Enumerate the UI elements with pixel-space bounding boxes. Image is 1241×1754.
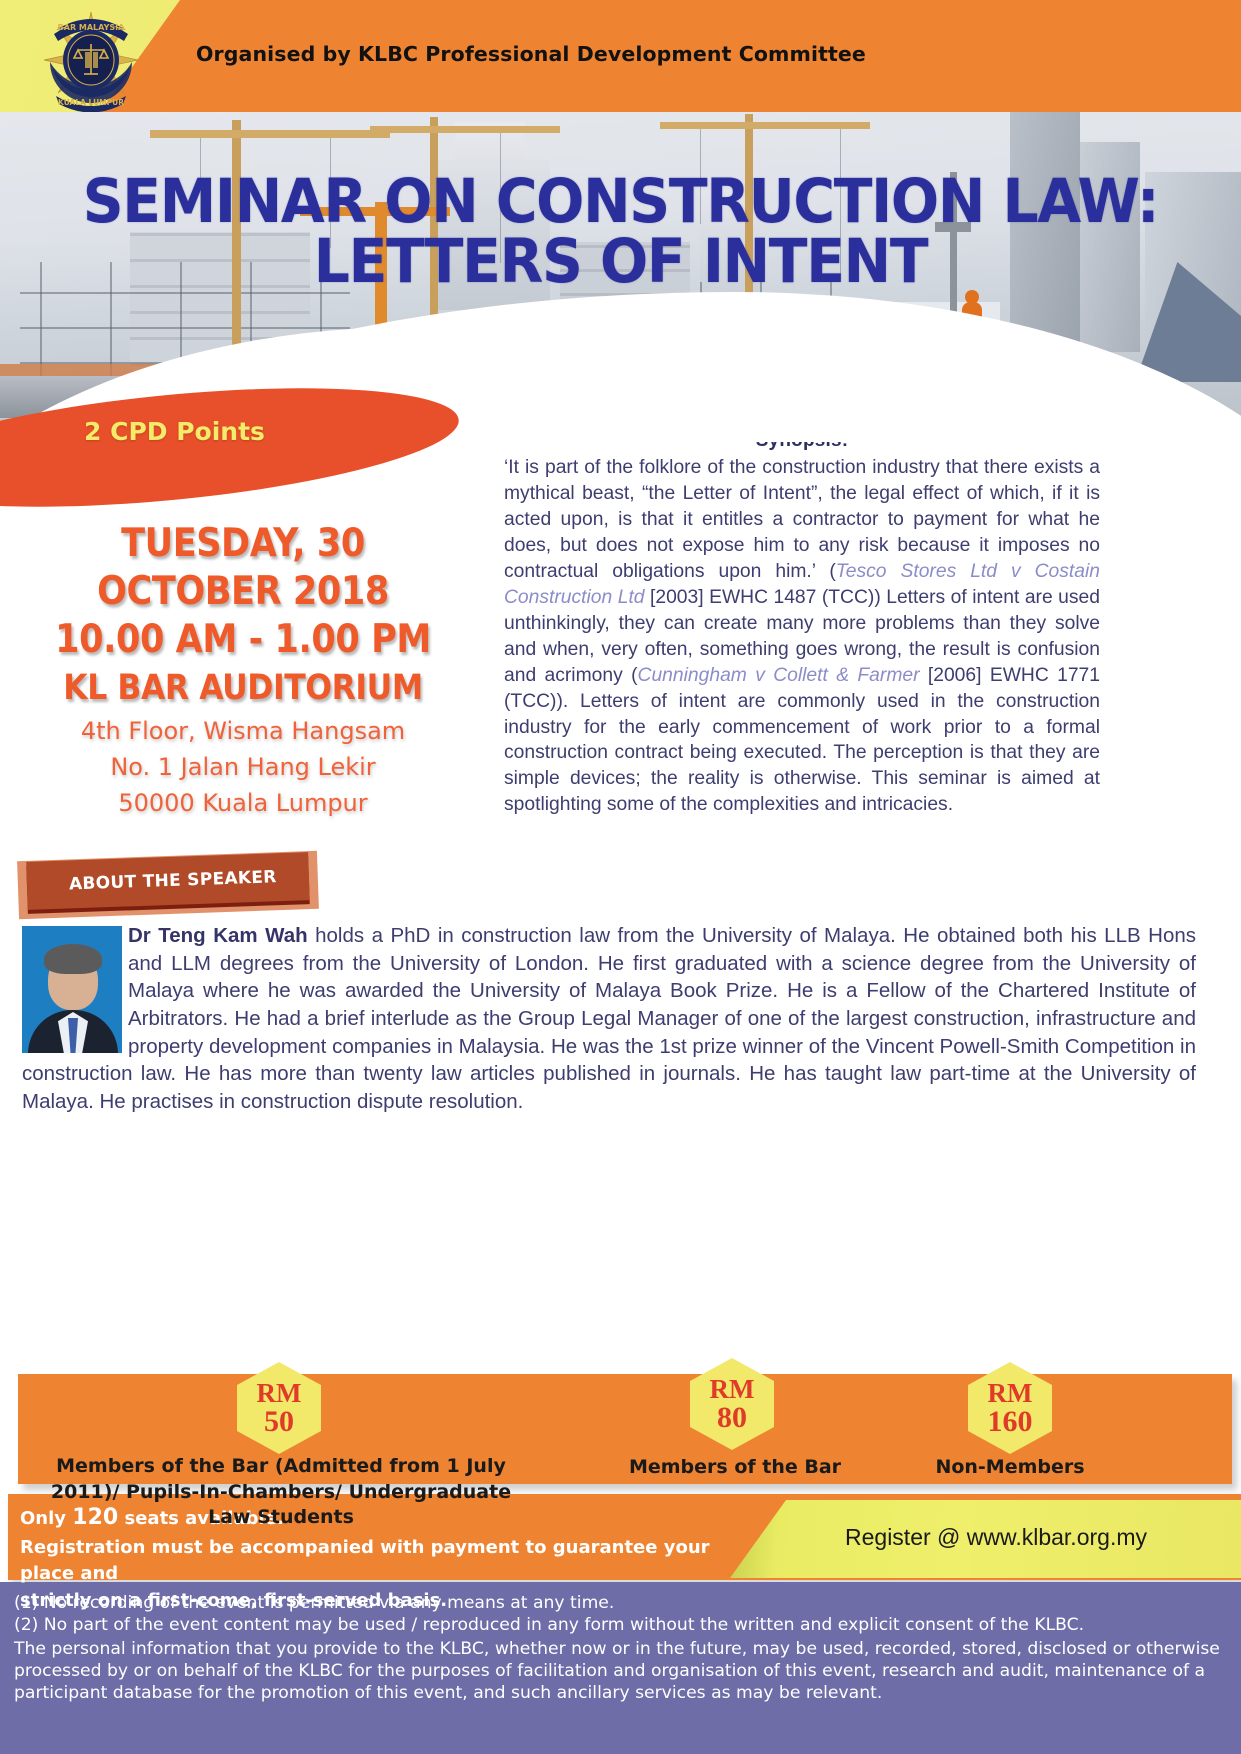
svg-text:KUALA LUMPUR: KUALA LUMPUR [58,98,124,107]
fee-label-3: Non-Members [880,1455,1140,1481]
event-address-line-1: 4th Floor, Wisma Hangsam [0,716,486,748]
poster-title-line1: SEMINAR ON CONSTRUCTION LAW: [43,172,1197,232]
speaker-name: Dr Teng Kam Wah [128,924,308,947]
footer-privacy-notice: The personal information that you provid… [14,1638,1227,1705]
event-time: 10.00 AM - 1.00 PM [24,615,461,665]
synopsis-part-3: [2006] EWHC 1771 (TCC)). Letters of inte… [504,665,1100,816]
poster-title-line2: LETTERS OF INTENT [43,232,1197,292]
case-citation-2: Cunningham v Collett & Farmer [638,665,920,686]
speaker-bio: Dr Teng Kam Wah holds a PhD in construct… [0,922,1214,1116]
registration-line-3: strictly on a first-come, first-served b… [20,1588,740,1615]
event-date: TUESDAY, 30 OCTOBER 2018 [24,520,461,615]
synopsis-section: Synopsis: ‘It is part of the folklore of… [504,430,1100,818]
poster-title: SEMINAR ON CONSTRUCTION LAW: LETTERS OF … [43,172,1197,293]
event-address-line-2: No. 1 Jalan Hang Lekir [0,752,486,784]
fee-currency-3: RM [988,1380,1033,1407]
fee-amount-3: 160 [988,1407,1033,1437]
about-the-speaker-label: ABOUT THE SPEAKER [69,867,277,894]
event-details: TUESDAY, 30 OCTOBER 2018 10.00 AM - 1.00… [0,520,486,820]
header-bar: BAR MALAYSIA KUALA LUMPUR [0,0,1241,112]
fee-hex-badges: RM 50 RM 80 RM 160 [0,1340,1241,1450]
footer-note-2: (2) No part of the event content may be … [14,1614,1227,1636]
register-url-link[interactable]: Register @ www.klbar.org.my [786,1524,1206,1551]
fee-badge-1: RM 50 [237,1362,321,1454]
synopsis-text: ‘It is part of the folklore of the const… [504,455,1100,818]
event-address-line-3: 50000 Kuala Lumpur [0,788,486,820]
fee-label-2: Members of the Bar [585,1455,885,1481]
speaker-bio-text: holds a PhD in construction law from the… [22,924,1196,1113]
fee-label-1: Members of the Bar (Admitted from 1 July… [46,1454,516,1531]
fee-amount-1: 50 [264,1407,294,1437]
fee-currency-1: RM [257,1380,302,1407]
organiser-label: Organised by KLBC Professional Developme… [196,42,866,66]
bio-photo-spacer [22,922,128,1056]
event-venue: KL BAR AUDITORIUM [24,665,461,712]
ribbon-main-layer: ABOUT THE SPEAKER [26,852,310,910]
cpd-points-label: 2 CPD Points [84,417,265,446]
registration-line-2: Registration must be accompanied with pa… [20,1535,740,1588]
fee-badge-2: RM 80 [690,1358,774,1450]
kl-bar-committee-crest-icon: BAR MALAYSIA KUALA LUMPUR [30,4,152,112]
about-the-speaker-ribbon: ABOUT THE SPEAKER [18,856,338,918]
fee-amount-2: 80 [717,1403,747,1433]
fee-badge-3: RM 160 [968,1362,1052,1454]
fee-currency-2: RM [710,1376,755,1403]
seminar-poster: BAR MALAYSIA KUALA LUMPUR [0,0,1241,1754]
